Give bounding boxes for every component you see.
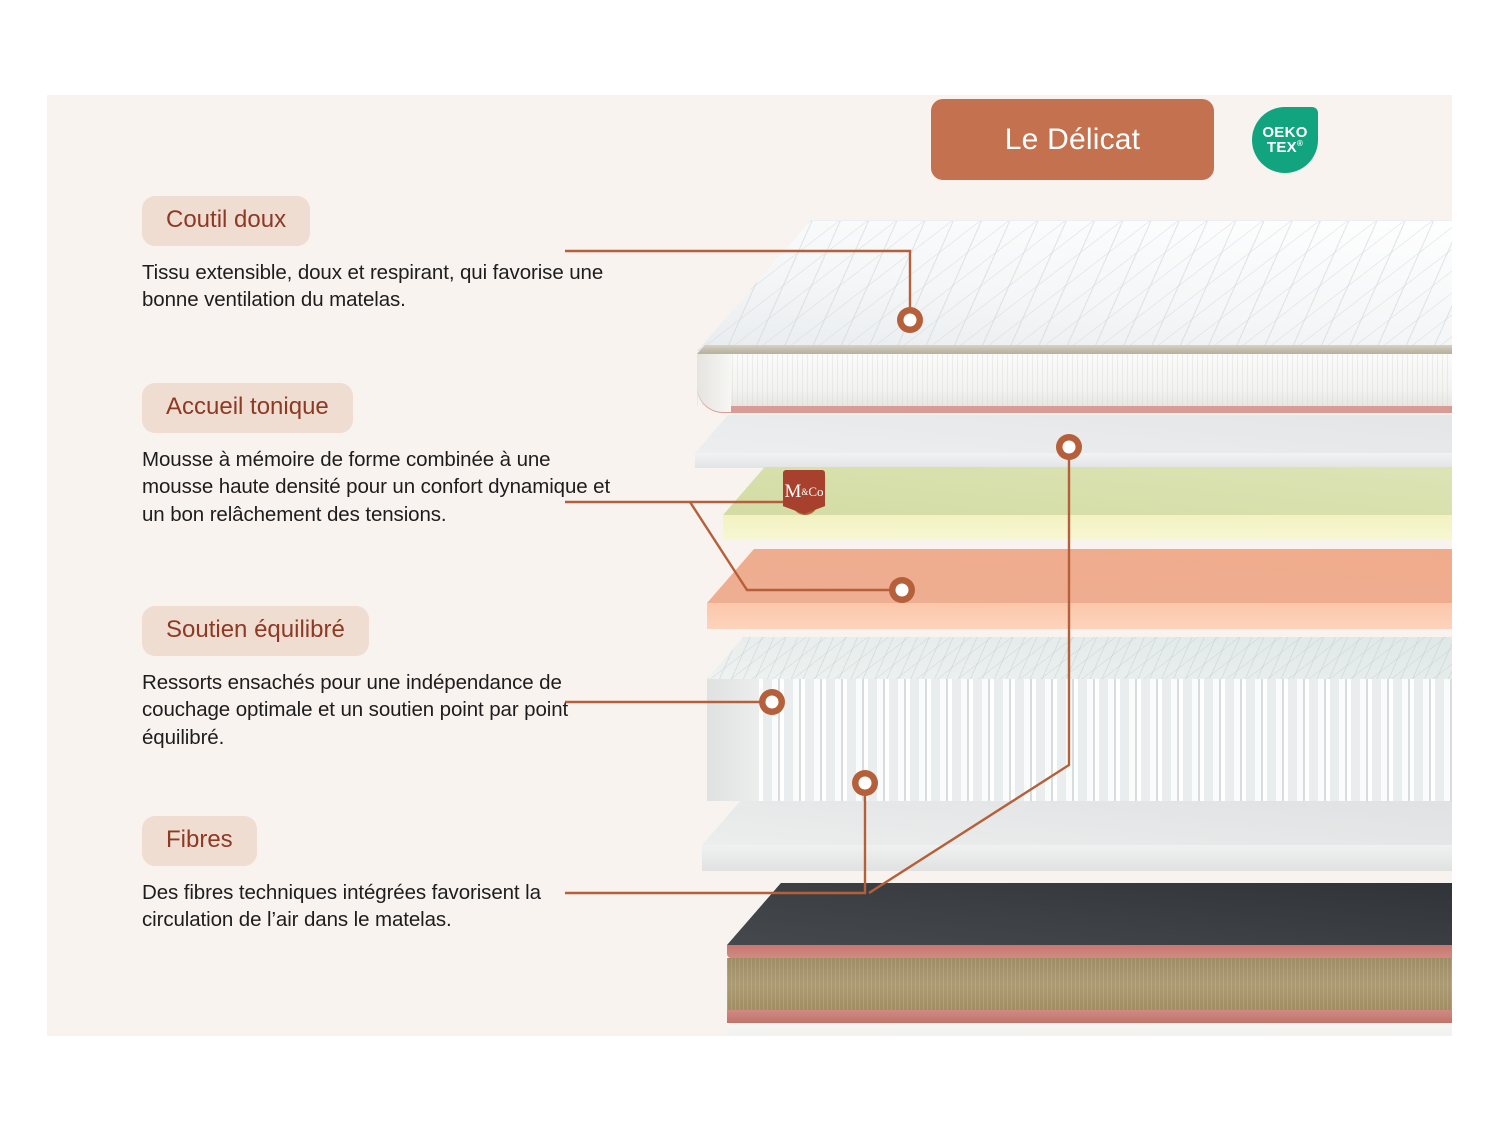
feature-description-fibres: Des fibres techniques intégrées favorise… [142, 879, 612, 934]
brand-letter-m: M [784, 483, 801, 500]
feature-description-accueil-tonique: Mousse à mémoire de forme combinée à une… [142, 446, 612, 528]
feature-block-soutien-equilibre: Soutien équilibré Ressorts ensachés pour… [142, 606, 612, 751]
infographic-canvas: Le Délicat OEKO TEX® M&Co [0, 0, 1500, 1125]
feature-description-coutil-doux: Tissu extensible, doux et respirant, qui… [142, 259, 612, 314]
feature-label-coutil-doux: Coutil doux [142, 196, 310, 246]
marker-coutil-doux [897, 307, 923, 333]
brand-ampersand: & [801, 488, 808, 496]
marker-fibre-upper [1056, 434, 1082, 460]
marker-fibres [852, 770, 878, 796]
callout-line-coutil-doux [565, 251, 910, 307]
brand-letters-co: Co [808, 486, 823, 498]
callout-line-accueil-lower [690, 502, 902, 590]
feature-block-coutil-doux: Coutil doux Tissu extensible, doux et re… [142, 196, 612, 314]
feature-block-accueil-tonique: Accueil tonique Mousse à mémoire de form… [142, 383, 612, 528]
callout-line-accueil-connector [869, 452, 1069, 893]
feature-label-fibres: Fibres [142, 816, 257, 866]
feature-description-soutien-equilibre: Ressorts ensachés pour une indépendance … [142, 669, 612, 751]
content-panel: Le Délicat OEKO TEX® M&Co [47, 95, 1452, 1036]
feature-label-accueil-tonique: Accueil tonique [142, 383, 353, 433]
feature-block-fibres: Fibres Des fibres techniques intégrées f… [142, 816, 612, 934]
feature-label-soutien-equilibre: Soutien équilibré [142, 606, 369, 656]
brand-logo-tag: M&Co [783, 470, 825, 514]
marker-high-density-foam [889, 577, 915, 603]
marker-pocket-springs [759, 689, 785, 715]
